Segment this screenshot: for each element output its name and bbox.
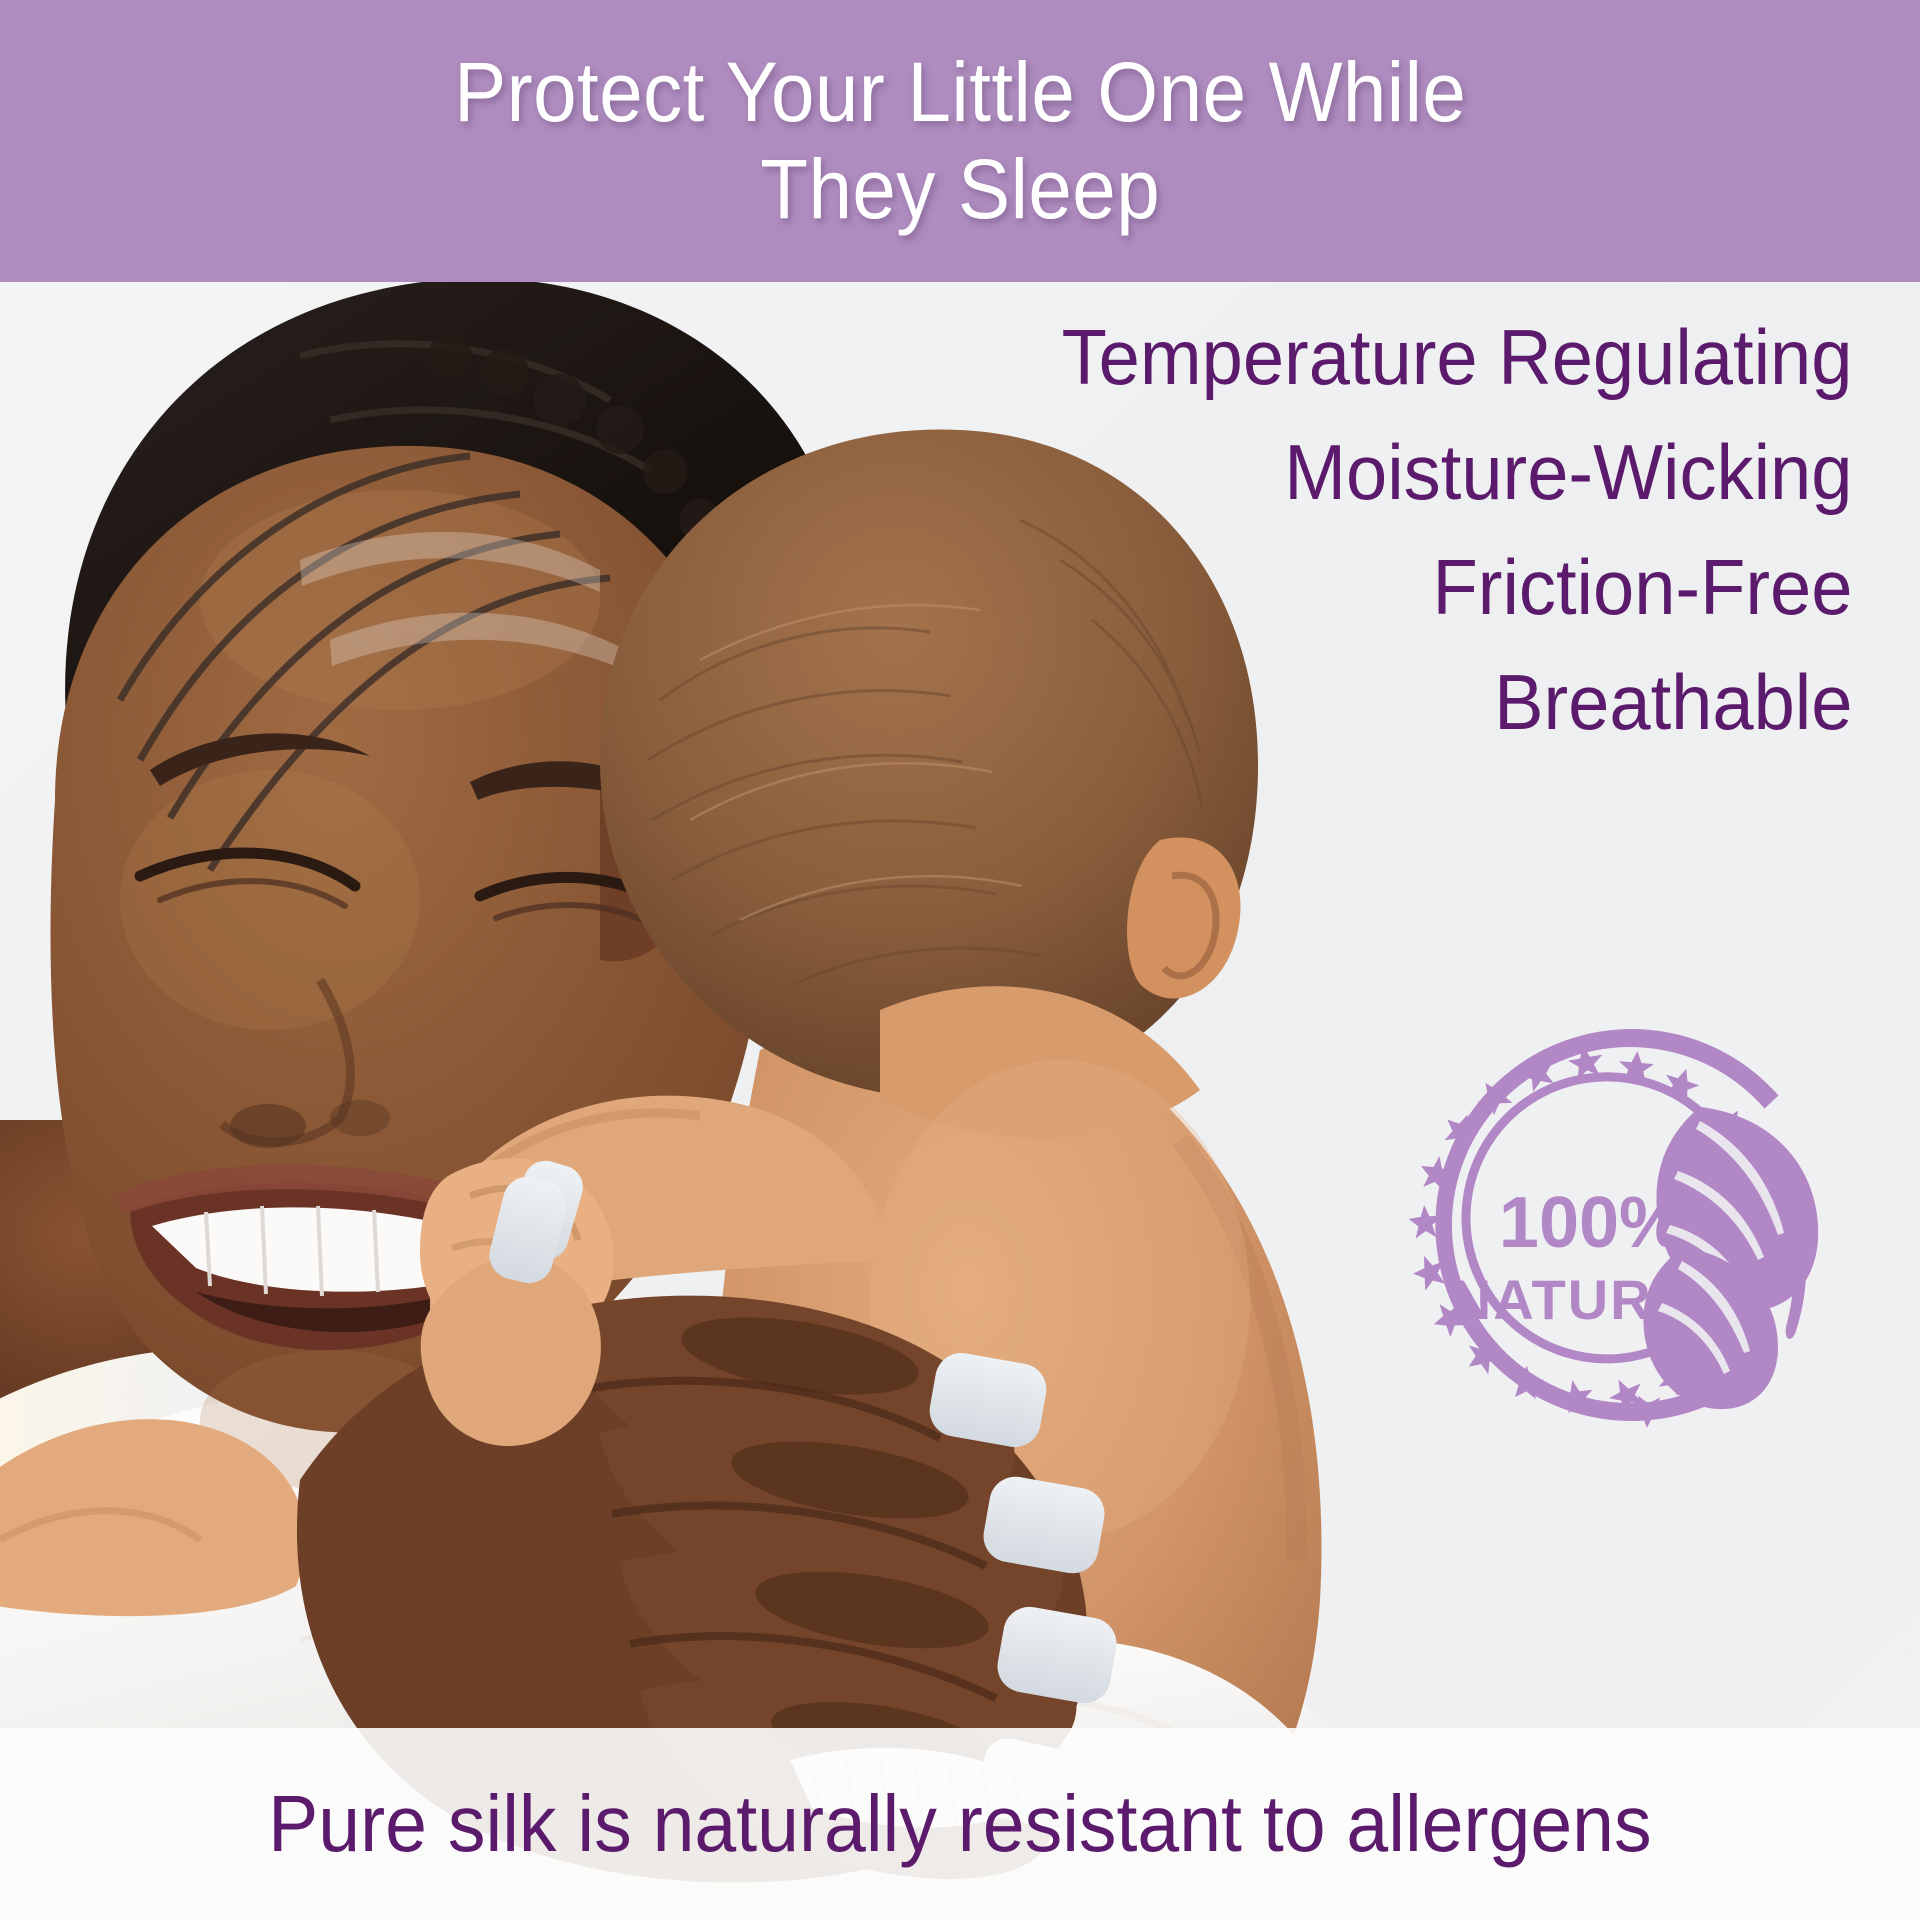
feature-list: Temperature Regulating Moisture-Wicking …: [1020, 300, 1852, 760]
feature-item-temperature-regulating: Temperature Regulating: [1061, 300, 1852, 415]
page-title: Protect Your Little One While They Sleep: [417, 44, 1504, 239]
badge-percent-text: 100%: [1499, 1183, 1683, 1263]
feature-item-breathable: Breathable: [1061, 645, 1852, 760]
feature-item-friction-free: Friction-Free: [1061, 530, 1852, 645]
natural-badge: 100% NATURAL: [1348, 975, 1858, 1475]
caption-text: Pure silk is naturally resistant to alle…: [268, 1784, 1651, 1864]
feature-item-moisture-wicking: Moisture-Wicking: [1061, 415, 1852, 530]
hero-photo: [0, 0, 1920, 1920]
product-promo-poster: Protect Your Little One While They Sleep…: [0, 0, 1920, 1920]
header-band: Protect Your Little One While They Sleep: [0, 0, 1920, 282]
caption-band: Pure silk is naturally resistant to alle…: [0, 1728, 1920, 1920]
